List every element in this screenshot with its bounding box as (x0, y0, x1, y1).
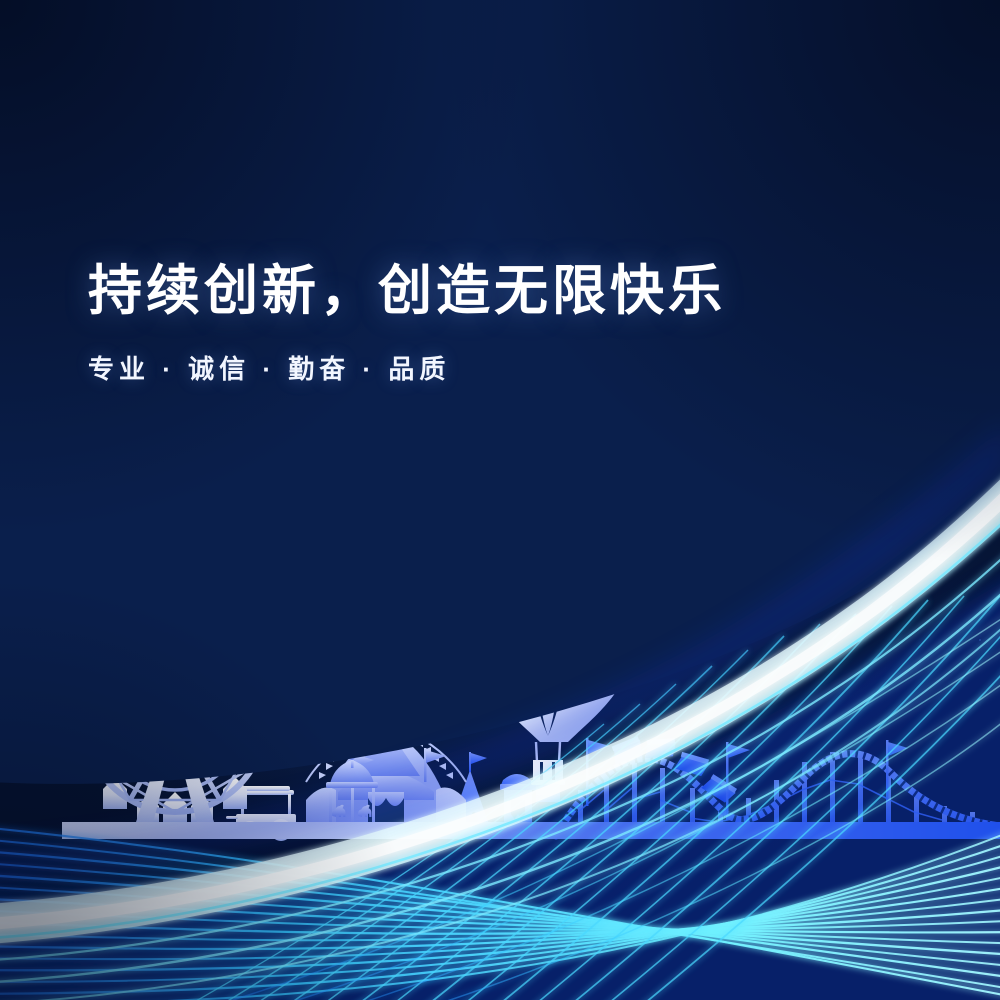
headline-block: 持续创新，创造无限快乐 专业 · 诚信 · 勤奋 · 品质 (88, 262, 726, 386)
glow-wave-mesh (0, 0, 1000, 1000)
page-title: 持续创新，创造无限快乐 (88, 262, 726, 321)
page-subtitle: 专业 · 诚信 · 勤奋 · 品质 (88, 349, 726, 386)
banner-stage: 持续创新，创造无限快乐 专业 · 诚信 · 勤奋 · 品质 (0, 0, 1000, 1000)
